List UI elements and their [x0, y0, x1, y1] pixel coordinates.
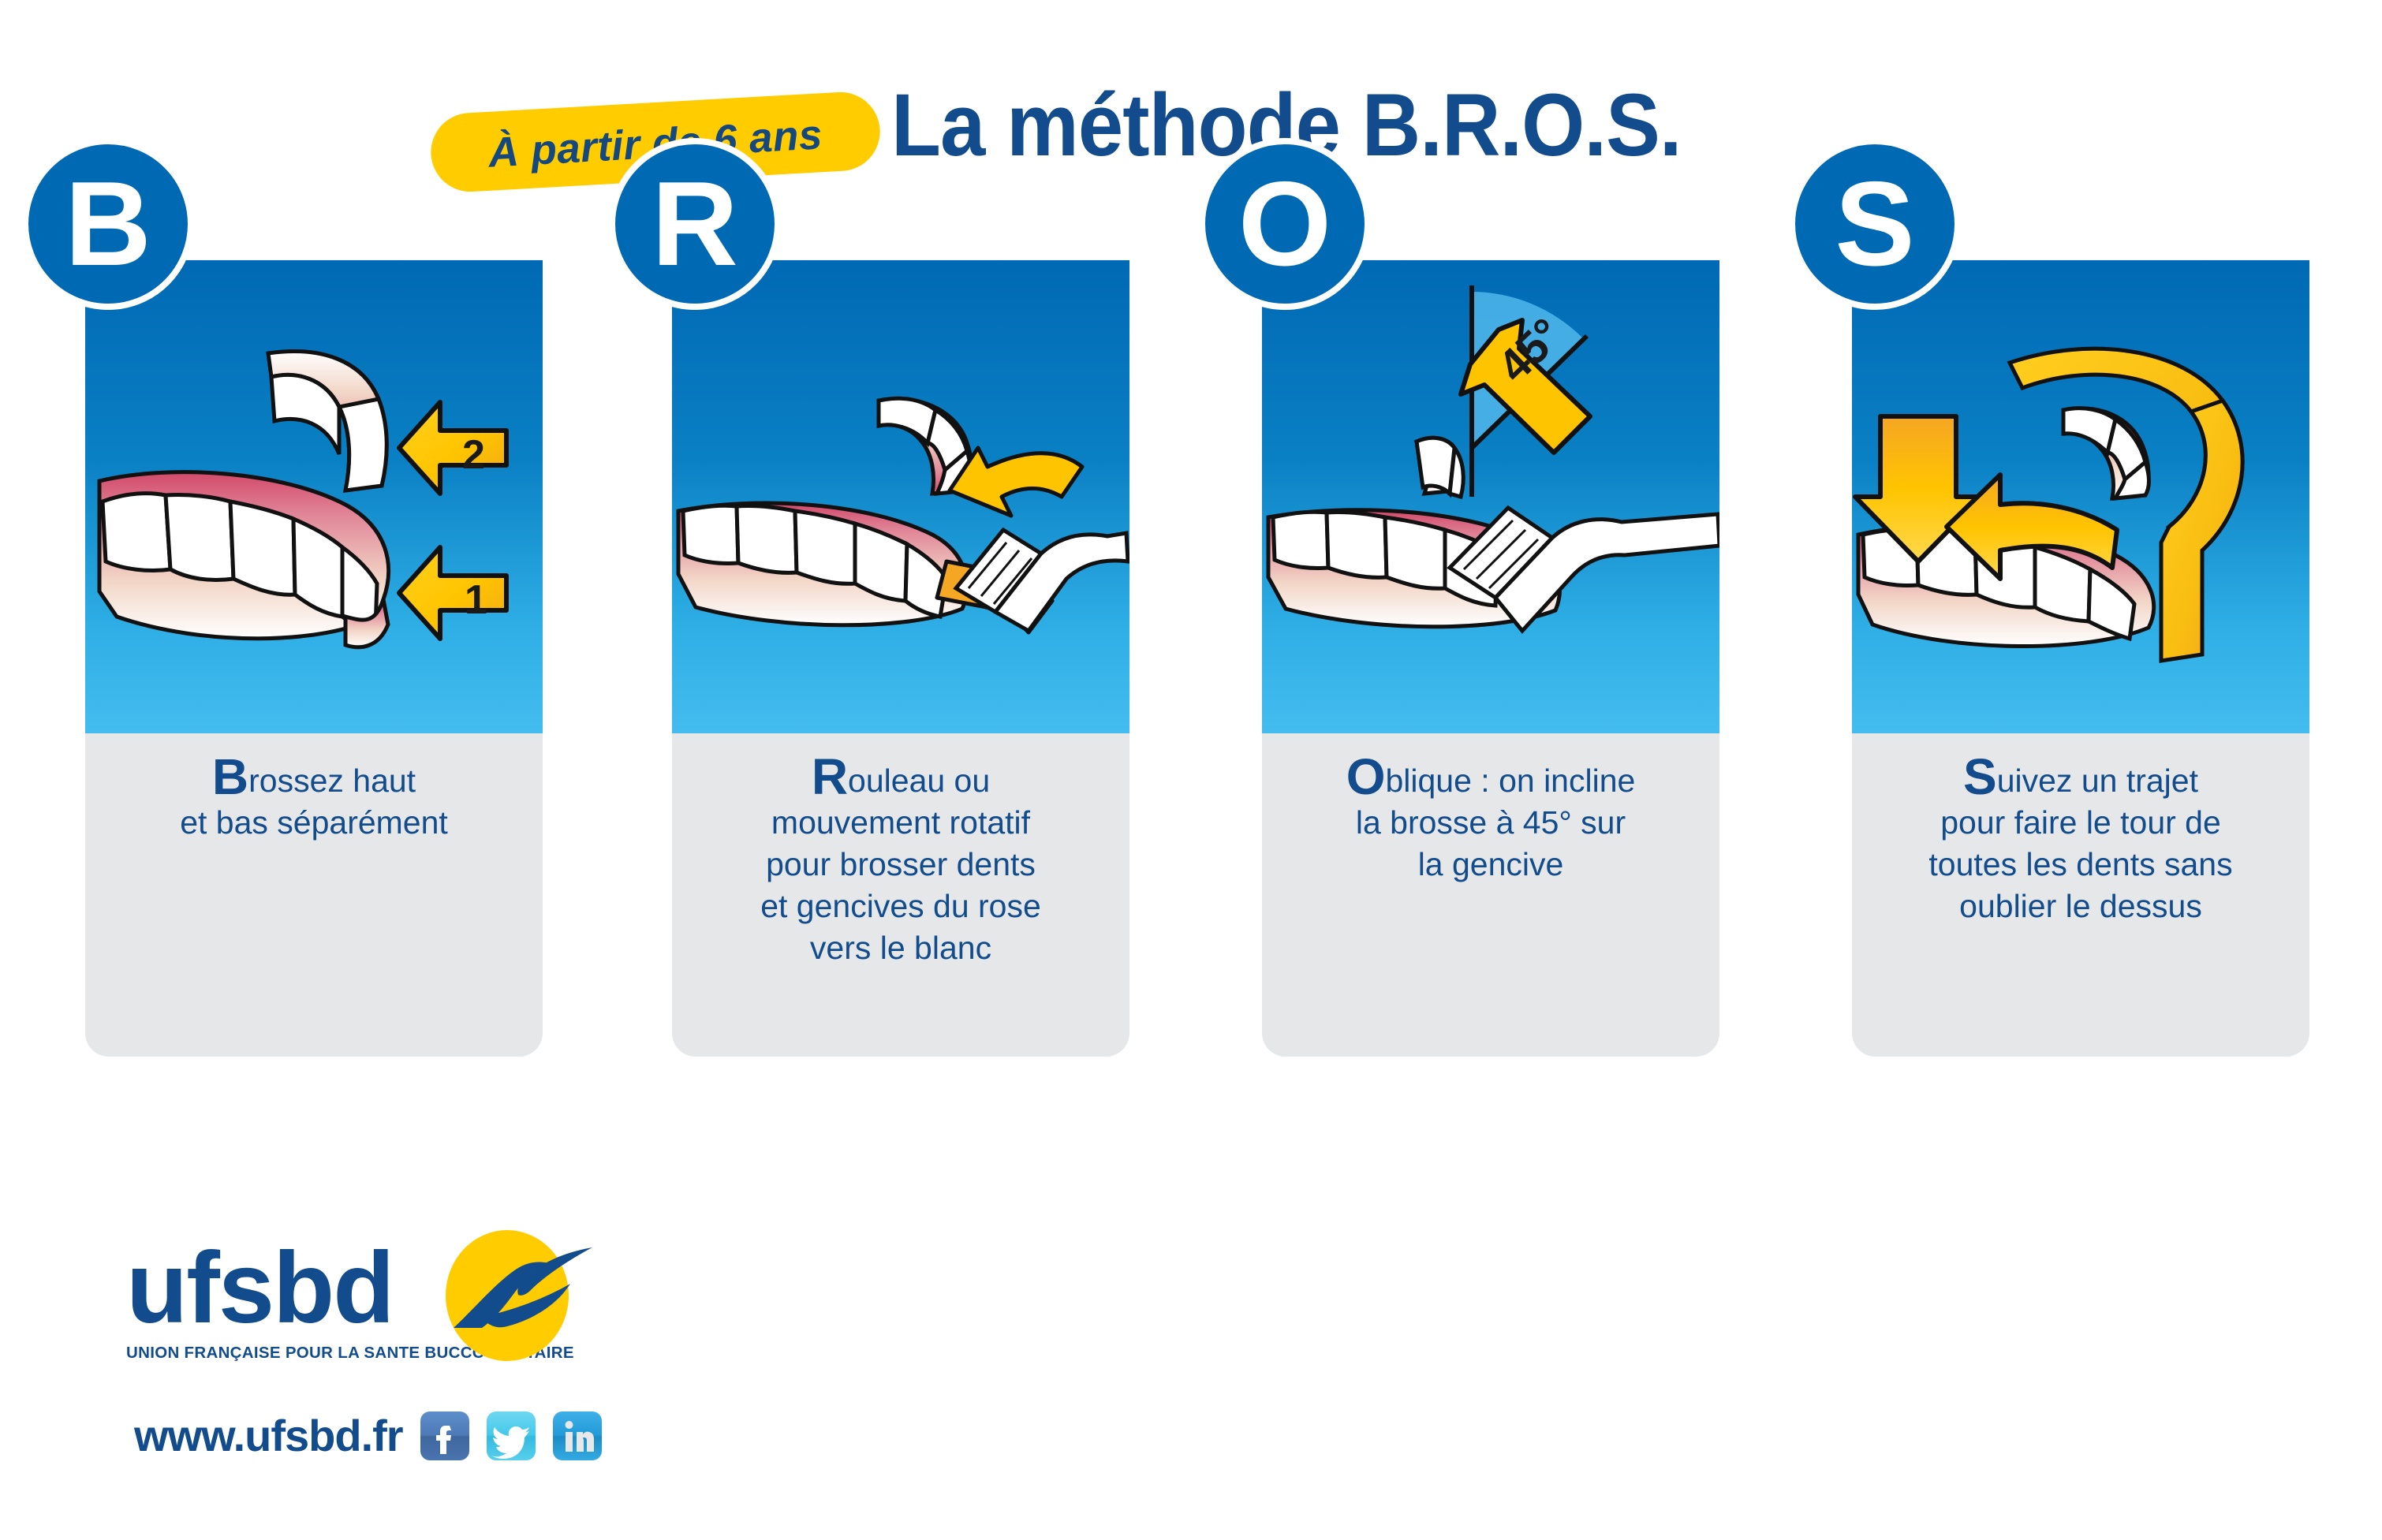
header: À partir de 6 ans La méthode B.R.O.S.	[0, 0, 2382, 213]
step-caption-o: Oblique : on incline la brosse à 45° sur…	[1262, 733, 1719, 1057]
step-panel-s: S Suivez un trajet pour faire le tour de…	[1852, 260, 2309, 1057]
badge-letter-b: B	[22, 138, 194, 310]
caption-text: blique : on incline	[1385, 763, 1635, 799]
steps-container: 2 1 B Brossez haut et bas séparément	[0, 260, 2382, 1088]
caption-line: Oblique : on incline	[1262, 760, 1719, 802]
ufsbd-smile-mark	[430, 1229, 595, 1363]
step-caption-s: Suivez un trajet pour faire le tour de t…	[1852, 733, 2309, 1057]
caption-line: pour brosser dents	[672, 844, 1129, 886]
badge-letter-o: O	[1199, 138, 1371, 310]
step-panel-o: 45° O Oblique : on incline la brosse à 4…	[1262, 260, 1719, 1057]
infographic-root: À partir de 6 ans La méthode B.R.O.S.	[0, 0, 2382, 1540]
step-caption-r: Rouleau ou mouvement rotatif pour brosse…	[672, 733, 1129, 1057]
caption-dropcap: S	[1963, 748, 1997, 805]
site-and-social: www.ufsbd.fr	[134, 1410, 602, 1461]
toothbrush-roll-illustration	[672, 260, 1129, 733]
caption-dropcap: R	[812, 748, 848, 805]
step-panel-b: 2 1 B Brossez haut et bas séparément	[85, 260, 543, 1057]
twitter-icon[interactable]	[487, 1411, 536, 1460]
caption-text: uivez un trajet	[1997, 763, 2198, 799]
caption-line: et gencives du rose	[672, 886, 1129, 927]
caption-text: ouleau ou	[848, 763, 990, 799]
footer: ufsbd UNION FRANÇAISE POUR LA SANTE BUCC…	[0, 1214, 2382, 1530]
caption-dropcap: O	[1346, 748, 1386, 805]
caption-line: Brossez haut	[85, 760, 543, 802]
facebook-icon[interactable]	[420, 1411, 469, 1460]
step-caption-b: Brossez haut et bas séparément	[85, 733, 543, 1057]
linkedin-icon[interactable]	[553, 1411, 602, 1460]
caption-line: Suivez un trajet	[1852, 760, 2309, 802]
caption-line: oublier le dessus	[1852, 886, 2309, 927]
caption-line: pour faire le tour de	[1852, 802, 2309, 844]
caption-line: vers le blanc	[672, 927, 1129, 969]
badge-letter-s: S	[1789, 138, 1961, 310]
badge-letter-r: R	[609, 138, 781, 310]
caption-dropcap: B	[212, 748, 248, 805]
arrow-1	[399, 547, 506, 639]
caption-line: la brosse à 45° sur	[1262, 802, 1719, 844]
arrow-label-2: 2	[462, 431, 485, 479]
caption-line: toutes les dents sans	[1852, 844, 2309, 886]
step-illustration-b: 2 1	[85, 260, 543, 733]
step-illustration-r	[672, 260, 1129, 733]
step-illustration-s	[1852, 260, 2309, 733]
arrow-label-1: 1	[465, 576, 487, 624]
step-illustration-o: 45°	[1262, 260, 1719, 733]
caption-line: et bas séparément	[85, 802, 543, 844]
caption-line: mouvement rotatif	[672, 802, 1129, 844]
teeth-upper-lower-illustration	[85, 260, 543, 733]
website-link[interactable]: www.ufsbd.fr	[134, 1410, 403, 1461]
arrow-2	[399, 402, 506, 494]
caption-line: la gencive	[1262, 844, 1719, 886]
step-panel-r: R Rouleau ou mouvement rotatif pour bros…	[672, 260, 1129, 1057]
caption-line: Rouleau ou	[672, 760, 1129, 802]
caption-text: rossez haut	[248, 763, 416, 799]
brushing-path-illustration	[1852, 260, 2309, 733]
brush-angle-45-illustration	[1262, 260, 1719, 733]
